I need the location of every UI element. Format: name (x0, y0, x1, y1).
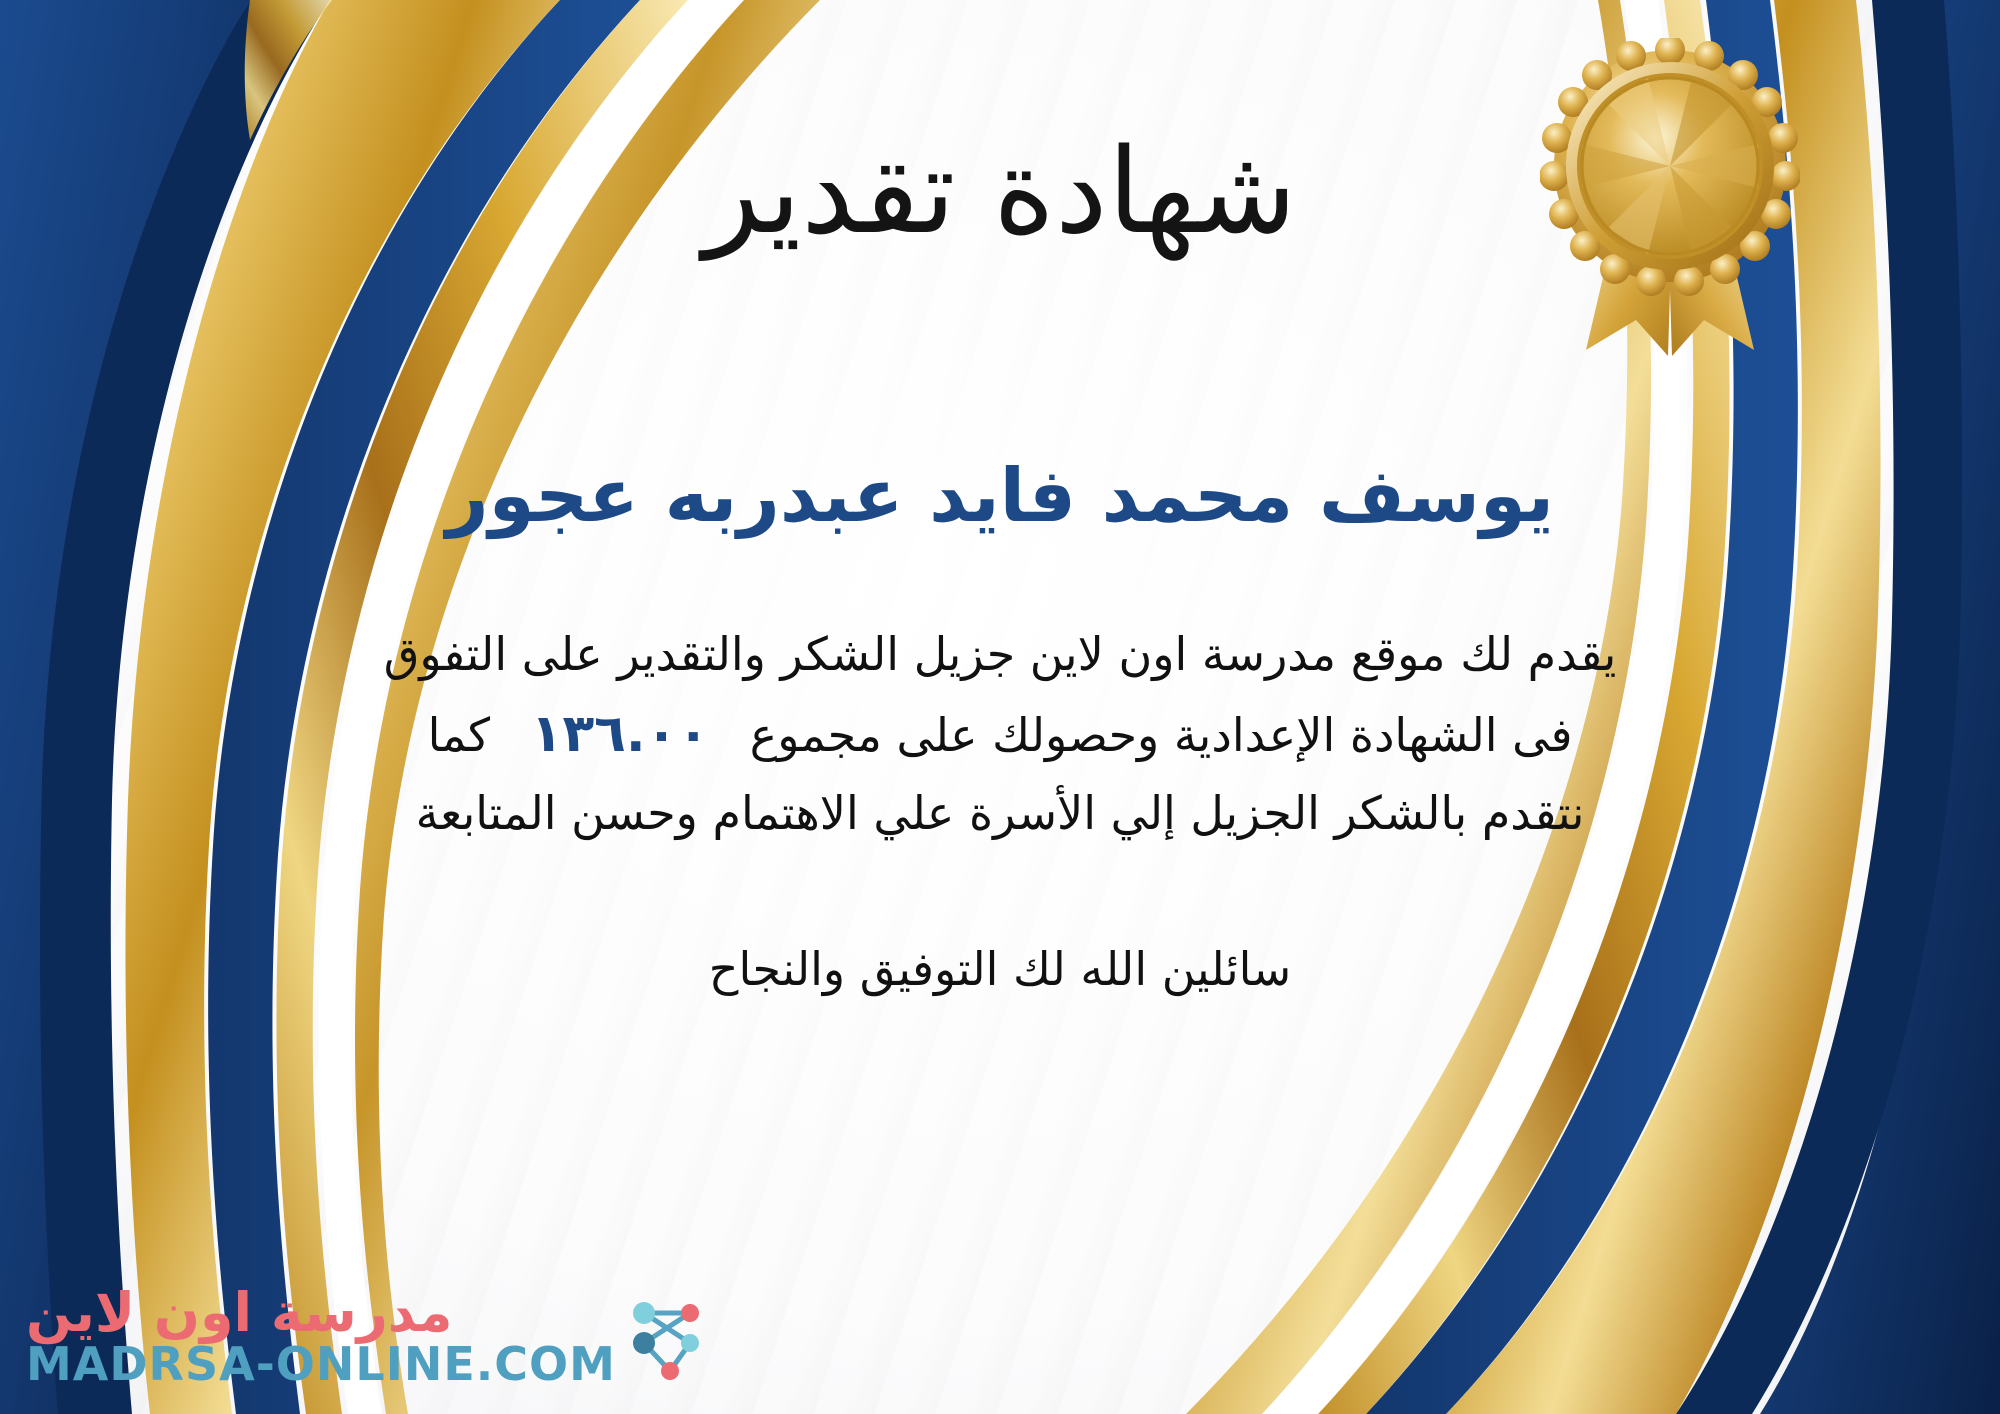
certificate-canvas: شهادة تقدير يوسف محمد فايد عبدربه عجور ي… (0, 0, 2000, 1414)
network-nodes-icon (626, 1291, 712, 1383)
certificate-content: شهادة تقدير يوسف محمد فايد عبدربه عجور ي… (0, 0, 2000, 1414)
brand-website: MADRSA-ONLINE.COM (26, 1340, 616, 1388)
closing-line: سائلين الله لك التوفيق والنجاح (709, 942, 1291, 996)
brand-text: مدرسة اون لاين MADRSA-ONLINE.COM (26, 1286, 616, 1388)
brand-arabic-name: مدرسة اون لاين (26, 1286, 452, 1340)
certificate-title: شهادة تقدير (703, 130, 1297, 254)
certificate-body: يقدم لك موقع مدرسة اون لاين جزيل الشكر و… (260, 617, 1740, 850)
body-line-3: نتقدم بالشكر الجزيل إلي الأسرة علي الاهت… (260, 776, 1740, 851)
body-line-2-prefix: فى الشهادة الإعدادية وحصولك على مجموع (750, 708, 1573, 762)
body-line-2: فى الشهادة الإعدادية وحصولك على مجموع ١٣… (260, 692, 1740, 776)
body-line-1: يقدم لك موقع مدرسة اون لاين جزيل الشكر و… (260, 617, 1740, 692)
recipient-name: يوسف محمد فايد عبدربه عجور (446, 454, 1554, 539)
body-line-2-suffix: كما (428, 708, 491, 762)
brand-logo[interactable]: مدرسة اون لاين MADRSA-ONLINE.COM (26, 1286, 712, 1388)
grade-total-value: ١٣٦.٠٠ (505, 704, 735, 764)
